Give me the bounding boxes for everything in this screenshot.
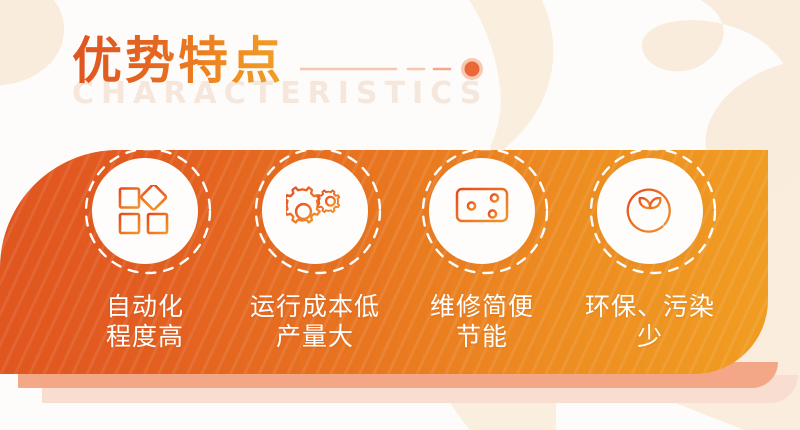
feature-label: 环保、污染 少	[550, 292, 750, 352]
gears-icon	[286, 185, 344, 237]
feature-icon-bubble[interactable]	[429, 158, 535, 264]
poster-canvas: CHARACTERISTICS 优势特点	[0, 0, 800, 430]
sliders-panel-icon	[453, 185, 511, 237]
feature-icon-bubble[interactable]	[92, 158, 198, 264]
feature-item-eco[interactable]: 环保、污染 少	[550, 158, 750, 352]
feature-icon-bubble[interactable]	[597, 158, 703, 264]
feature-list: 自动化 程度高	[0, 0, 800, 430]
feature-icon-bubble[interactable]	[262, 158, 368, 264]
sprout-eco-icon	[623, 184, 677, 238]
grid-diamond-icon	[117, 185, 173, 237]
